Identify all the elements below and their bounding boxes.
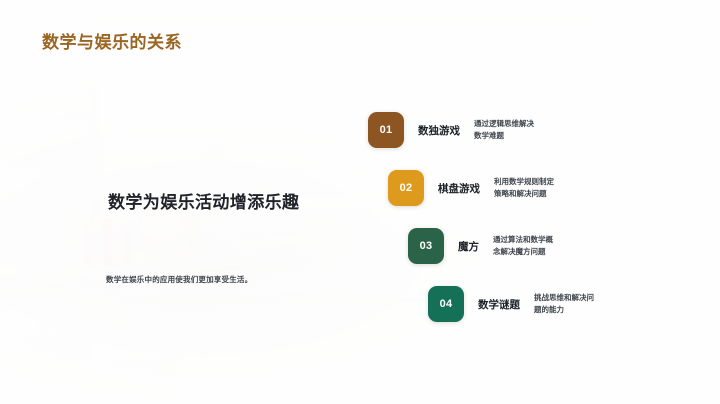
item-number-badge: 04 — [428, 286, 464, 322]
item-description-line: 念解决魔方问题 — [493, 246, 577, 258]
item-description-line: 策略和解决问题 — [494, 188, 578, 200]
item-description-line: 通过逻辑思维解决 — [474, 118, 558, 130]
list-item[interactable]: 01 数独游戏 通过逻辑思维解决 数学难题 — [368, 112, 558, 148]
slide-content: 数学与娱乐的关系 数学为娱乐活动增添乐趣 数学在娱乐中的应用使我们更加享受生活。… — [0, 0, 720, 404]
item-description-line: 利用数学规则制定 — [494, 176, 578, 188]
item-description-line: 数学难题 — [474, 130, 558, 142]
list-item[interactable]: 03 魔方 通过算法和数学概 念解决魔方问题 — [408, 228, 577, 264]
item-description-line: 通过算法和数学概 — [493, 234, 577, 246]
item-description: 挑战思维和解决问 题的能力 — [534, 292, 618, 315]
item-label: 棋盘游戏 — [438, 181, 480, 196]
slide: 数学与娱乐的关系 数学为娱乐活动增添乐趣 数学在娱乐中的应用使我们更加享受生活。… — [0, 0, 720, 404]
list-item[interactable]: 02 棋盘游戏 利用数学规则制定 策略和解决问题 — [388, 170, 578, 206]
item-number-badge: 01 — [368, 112, 404, 148]
item-description: 利用数学规则制定 策略和解决问题 — [494, 176, 578, 199]
item-label: 数独游戏 — [418, 123, 460, 138]
item-description-line: 挑战思维和解决问 — [534, 292, 618, 304]
item-label: 魔方 — [458, 239, 479, 254]
item-description-line: 题的能力 — [534, 304, 618, 316]
feature-list: 01 数独游戏 通过逻辑思维解决 数学难题 02 棋盘游戏 利用数学规则制定 策… — [0, 0, 720, 404]
list-item[interactable]: 04 数学谜题 挑战思维和解决问 题的能力 — [428, 286, 618, 322]
item-description: 通过算法和数学概 念解决魔方问题 — [493, 234, 577, 257]
item-label: 数学谜题 — [478, 297, 520, 312]
item-number-badge: 02 — [388, 170, 424, 206]
item-number-badge: 03 — [408, 228, 444, 264]
item-description: 通过逻辑思维解决 数学难题 — [474, 118, 558, 141]
